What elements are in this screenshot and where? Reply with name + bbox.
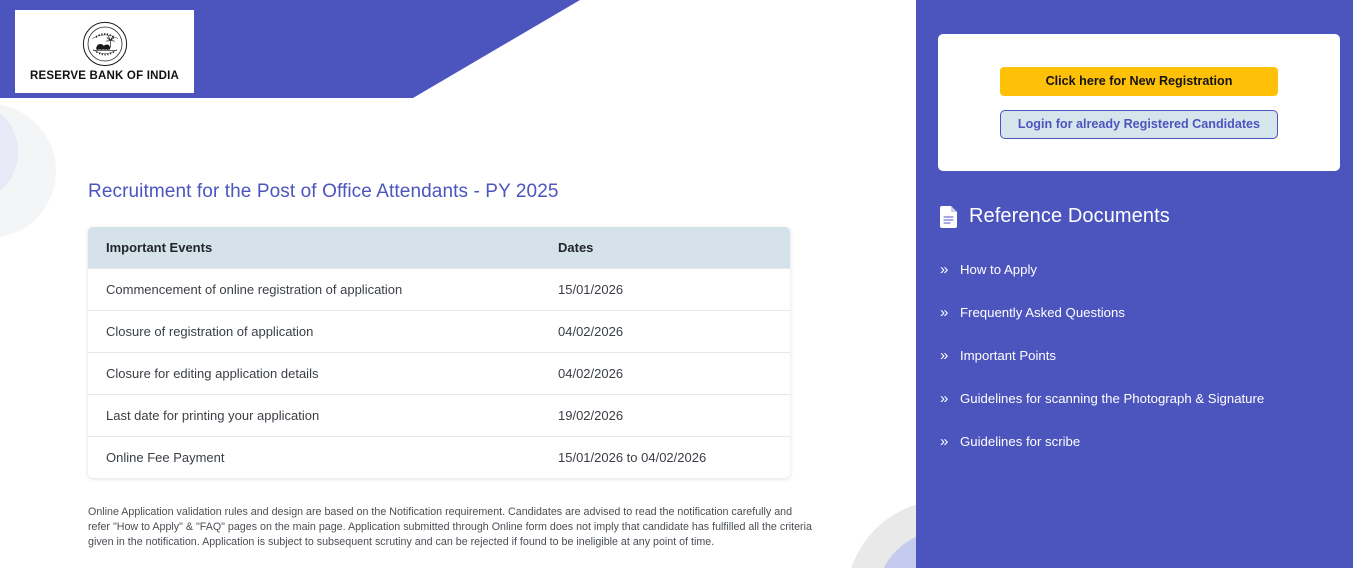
- page-root: RESERVE BANK OF INDIA Recruitment for th…: [0, 0, 1353, 568]
- reference-documents-title: Reference Documents: [969, 205, 1170, 228]
- cell-date: 15/01/2026: [540, 269, 790, 311]
- table-row: Closure for editing application details …: [88, 353, 790, 395]
- double-chevron-right-icon: »: [940, 262, 960, 277]
- cell-date: 04/02/2026: [540, 353, 790, 395]
- cell-event: Closure for editing application details: [88, 353, 540, 395]
- cell-date: 04/02/2026: [540, 311, 790, 353]
- cell-date: 15/01/2026 to 04/02/2026: [540, 437, 790, 479]
- login-registered-candidates-button[interactable]: Login for already Registered Candidates: [1000, 110, 1278, 139]
- disclaimer-text: Online Application validation rules and …: [88, 505, 815, 551]
- logo-caption: RESERVE BANK OF INDIA: [30, 70, 179, 82]
- rbi-seal-icon: [82, 21, 128, 67]
- table-body: Commencement of online registration of a…: [88, 269, 790, 479]
- side-panel: Click here for New Registration Login fo…: [916, 0, 1353, 568]
- page-title: Recruitment for the Post of Office Atten…: [88, 181, 828, 203]
- reference-link-scanning-guidelines[interactable]: » Guidelines for scanning the Photograph…: [940, 377, 1340, 420]
- reference-link-label: Important Points: [960, 348, 1056, 363]
- cell-event: Last date for printing your application: [88, 395, 540, 437]
- reference-documents-header: Reference Documents: [940, 205, 1170, 228]
- reference-link-important-points[interactable]: » Important Points: [940, 334, 1340, 377]
- rbi-logo-box: RESERVE BANK OF INDIA: [15, 10, 194, 93]
- important-events-table: Important Events Dates Commencement of o…: [88, 227, 790, 478]
- table-row: Closure of registration of application 0…: [88, 311, 790, 353]
- cell-event: Closure of registration of application: [88, 311, 540, 353]
- reference-link-label: Frequently Asked Questions: [960, 305, 1125, 320]
- reference-documents-list: » How to Apply » Frequently Asked Questi…: [940, 248, 1340, 463]
- cell-date: 19/02/2026: [540, 395, 790, 437]
- reference-link-scribe-guidelines[interactable]: » Guidelines for scribe: [940, 420, 1340, 463]
- double-chevron-right-icon: »: [940, 305, 960, 320]
- reference-link-faq[interactable]: » Frequently Asked Questions: [940, 291, 1340, 334]
- cell-event: Commencement of online registration of a…: [88, 269, 540, 311]
- table-row: Online Fee Payment 15/01/2026 to 04/02/2…: [88, 437, 790, 479]
- table-row: Last date for printing your application …: [88, 395, 790, 437]
- reference-link-how-to-apply[interactable]: » How to Apply: [940, 248, 1340, 291]
- new-registration-button[interactable]: Click here for New Registration: [1000, 67, 1278, 96]
- reference-link-label: Guidelines for scribe: [960, 434, 1080, 449]
- table-header-row: Important Events Dates: [88, 227, 790, 269]
- column-header-dates: Dates: [540, 227, 790, 269]
- double-chevron-right-icon: »: [940, 434, 960, 449]
- table-row: Commencement of online registration of a…: [88, 269, 790, 311]
- double-chevron-right-icon: »: [940, 348, 960, 363]
- document-icon: [940, 206, 958, 228]
- column-header-events: Important Events: [88, 227, 540, 269]
- reference-link-label: How to Apply: [960, 262, 1037, 277]
- main-content: Recruitment for the Post of Office Atten…: [88, 181, 828, 568]
- action-card: Click here for New Registration Login fo…: [938, 34, 1340, 171]
- double-chevron-right-icon: »: [940, 391, 960, 406]
- reference-link-label: Guidelines for scanning the Photograph &…: [960, 391, 1264, 406]
- cell-event: Online Fee Payment: [88, 437, 540, 479]
